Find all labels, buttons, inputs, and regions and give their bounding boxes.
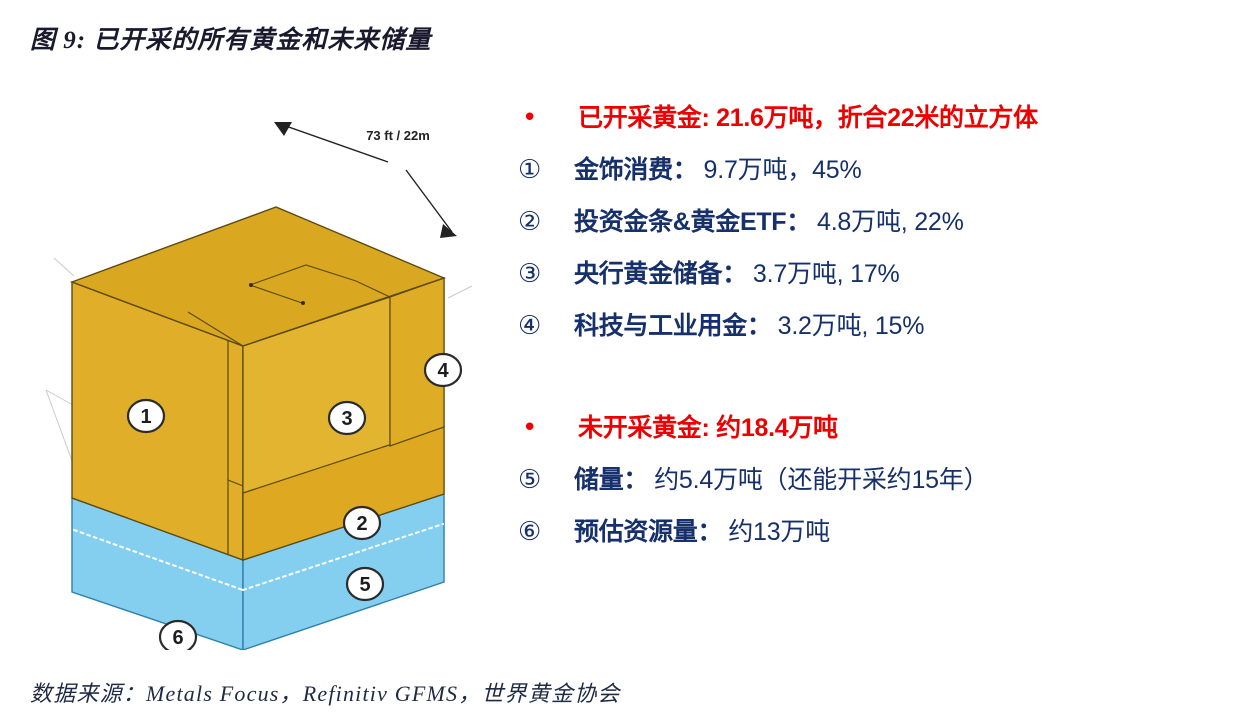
circled-number-2-icon: ② [518,209,574,235]
badge-1-label: 1 [140,406,151,428]
badge-5: 5 [347,568,383,600]
list-item-2: ② 投资金条&黄金ETF： 4.8万吨, 22% [518,202,1248,238]
gold-cube-diagram: 73 ft / 22m 1 3 4 2 5 6 [40,90,540,650]
badge-2-label: 2 [356,513,367,535]
section-2-headline: 未开采黄金: 约18.4万吨 [578,408,838,444]
badge-4-label: 4 [437,360,449,382]
list-item-3-value: 3.7万吨, 17% [753,254,900,290]
dimension-arrow-head-right [440,224,457,238]
bullet-icon-2: • [518,415,578,441]
list-item-4: ④ 科技与工业用金： 3.2万吨, 15% [518,306,1248,342]
section-1-headline: 已开采黄金: 21.6万吨，折合22米的立方体 [578,98,1038,134]
list-item-5-value: 约5.4万吨（还能开采约15年） [654,460,988,496]
list-item-3: ③ 央行黄金储备： 3.7万吨, 17% [518,254,1248,290]
list-item-2-label: 投资金条&黄金ETF： [574,202,811,238]
section-1-headline-row: • 已开采黄金: 21.6万吨，折合22米的立方体 [518,98,1248,134]
list-item-1-value: 9.7万吨，45% [704,150,862,186]
list-item-6-value: 约13万吨 [728,512,830,548]
badge-3-label: 3 [341,408,352,430]
bullet-icon: • [518,105,578,131]
badge-2: 2 [344,507,380,539]
badge-4: 4 [425,354,461,386]
list-item-1: ① 金饰消费： 9.7万吨，45% [518,150,1248,186]
badge-6: 6 [160,621,196,650]
dimension-label: 73 ft / 22m [366,128,430,143]
page-title: 图 9: 已开采的所有黄金和未来储量 [30,20,431,56]
circled-number-1-icon: ① [518,157,574,183]
section-2-headline-row: • 未开采黄金: 约18.4万吨 [518,408,1248,444]
badge-3: 3 [329,402,365,434]
list-item-6: ⑥ 预估资源量： 约13万吨 [518,512,1248,548]
list-item-4-value: 3.2万吨, 15% [778,306,925,342]
circled-number-4-icon: ④ [518,313,574,339]
badge-1: 1 [128,400,164,432]
dimension-arrow-head-left [274,122,292,136]
circled-number-5-icon: ⑤ [518,467,574,493]
info-panel: • 已开采黄金: 21.6万吨，折合22米的立方体 ① 金饰消费： 9.7万吨，… [518,98,1248,548]
section-divider-gap [518,342,1248,408]
source-note: 数据来源：Metals Focus，Refinitiv GFMS，世界黄金协会 [30,676,621,708]
badge-6-label: 6 [172,627,183,649]
list-item-1-label: 金饰消费： [574,150,698,186]
list-item-2-value: 4.8万吨, 22% [817,202,964,238]
list-item-5-label: 储量： [574,460,648,496]
list-item-6-label: 预估资源量： [574,512,722,548]
list-item-5: ⑤ 储量： 约5.4万吨（还能开采约15年） [518,460,1248,496]
list-item-3-label: 央行黄金储备： [574,254,747,290]
badge-5-label: 5 [359,574,370,596]
circled-number-6-icon: ⑥ [518,519,574,545]
circled-number-3-icon: ③ [518,261,574,287]
list-item-4-label: 科技与工业用金： [574,306,772,342]
